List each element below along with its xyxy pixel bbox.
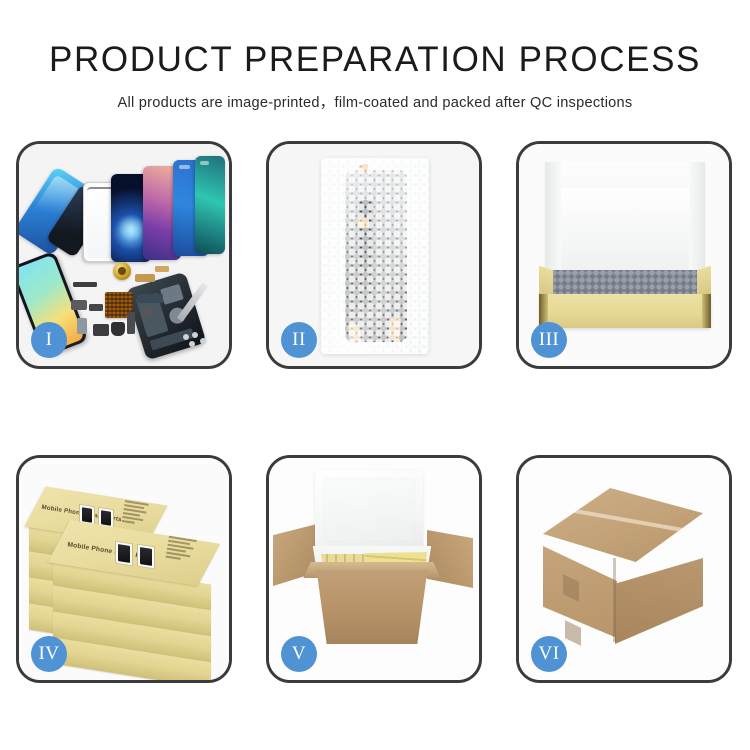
process-step-grid: I II	[16, 141, 734, 677]
phone-image-in-window	[140, 547, 152, 566]
product-preparation-infographic: PRODUCT PREPARATION PROCESS All products…	[0, 0, 750, 750]
process-step-card-6: VI	[516, 455, 732, 683]
connector-part	[71, 300, 87, 310]
step-badge-4: IV	[31, 636, 67, 672]
screws-group	[183, 332, 209, 348]
step-badge-6: VI	[531, 636, 567, 672]
foam-lid-open	[315, 470, 423, 552]
yellow-box-tray	[539, 294, 711, 328]
step-badge-5: V	[281, 636, 317, 672]
foam-flap-left	[545, 162, 561, 274]
flex-cable-part	[89, 304, 103, 311]
antenna-part	[127, 312, 135, 334]
gold-contact-part	[155, 266, 169, 272]
bubble-wrapped-contents	[551, 270, 699, 296]
phone-image-in-window	[82, 507, 92, 523]
bubble-wrap-bag	[321, 158, 429, 354]
button-part	[93, 324, 109, 336]
screw-icon	[189, 341, 195, 347]
camera-lens-icon	[113, 262, 131, 280]
phone-screen-fan	[83, 156, 223, 261]
carton-corner-seam	[613, 558, 616, 642]
small-chip-part	[141, 308, 151, 318]
carton-front-right-face	[615, 558, 703, 644]
process-step-card-5: V	[266, 455, 482, 683]
plastic-sheen	[321, 158, 429, 354]
phone-image-in-window	[101, 510, 111, 526]
speaker-mesh-part	[111, 322, 125, 336]
retail-box-top-front: Mobile Phone Spare Parts	[59, 532, 209, 574]
header: PRODUCT PREPARATION PROCESS All products…	[0, 0, 750, 112]
step-badge-2: II	[281, 322, 317, 358]
carton-tape-tab	[565, 620, 581, 646]
step-badge-3: III	[531, 322, 567, 358]
box-spec-lines	[121, 500, 150, 528]
spare-parts-group	[71, 262, 211, 358]
carton-front-left-face	[543, 546, 617, 638]
foam-flap-right	[689, 162, 705, 274]
screw-icon	[183, 334, 189, 340]
box-window	[115, 541, 133, 567]
page-subtitle: All products are image-printed，film-coat…	[0, 79, 750, 112]
process-step-card-1: I	[16, 141, 232, 369]
process-step-card-4: Mobile Phone Spare Parts	[16, 455, 232, 683]
box-window	[137, 544, 155, 570]
screw-icon	[192, 332, 198, 338]
gold-contact-part	[135, 274, 155, 282]
carton-flap-right	[427, 530, 473, 588]
screwdriver-icon	[177, 282, 209, 322]
foam-sheet	[545, 162, 705, 274]
process-step-card-3: III	[516, 141, 732, 369]
phone-screen-teal	[195, 156, 225, 254]
step-badge-1: I	[31, 322, 67, 358]
box-spec-lines	[165, 536, 198, 564]
phone-image-in-window	[118, 544, 130, 563]
ribbon-cable-part	[137, 294, 163, 303]
carton-body	[309, 570, 435, 644]
sim-tray-part	[77, 318, 87, 334]
page-title: PRODUCT PREPARATION PROCESS	[0, 0, 750, 79]
process-step-card-2: II	[266, 141, 482, 369]
screw-icon	[200, 338, 206, 344]
flex-cable-part	[73, 282, 97, 287]
carton-top-face	[543, 488, 703, 562]
